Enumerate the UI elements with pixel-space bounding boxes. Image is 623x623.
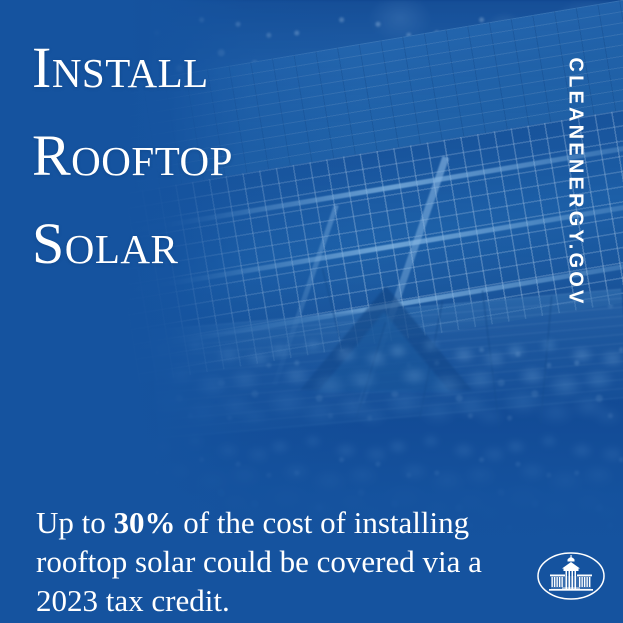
white-house-seal bbox=[536, 551, 606, 601]
vertical-website-url-label: CLEANENERGY.GOV bbox=[564, 57, 587, 306]
headline-line-1: Install bbox=[32, 24, 233, 112]
poster-canvas: Install Rooftop Solar CLEANENERGY.GOV Up… bbox=[0, 0, 623, 623]
body-copy-prefix: Up to bbox=[36, 505, 114, 540]
headline: Install Rooftop Solar bbox=[32, 24, 233, 288]
body-copy-highlight: 30% bbox=[114, 505, 176, 540]
vertical-website-url: CLEANENERGY.GOV bbox=[565, 42, 585, 322]
headline-line-3: Solar bbox=[32, 200, 233, 288]
white-house-seal-icon bbox=[536, 551, 606, 601]
body-copy: Up to 30% of the cost of installing roof… bbox=[36, 503, 506, 620]
headline-line-2: Rooftop bbox=[32, 112, 233, 200]
